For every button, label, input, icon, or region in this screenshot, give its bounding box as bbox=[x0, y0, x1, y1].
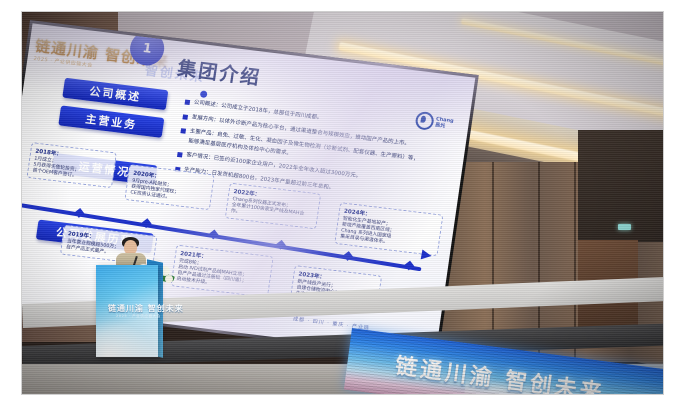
slide-nav-main-business: 主营业务 bbox=[58, 105, 164, 137]
bullet-square-icon bbox=[182, 114, 188, 120]
exit-sign-icon bbox=[618, 224, 631, 230]
bullet-lead: 主要产品： bbox=[189, 128, 217, 137]
podium-subtitle: 2025 · 产业供应链大会 bbox=[116, 314, 161, 319]
conference-photo: 链通川渝 智创未来 2025 · 产业供应链大会 1 智创未来 集团介绍 公司概… bbox=[0, 0, 685, 408]
timeline-card: 2018年： 1月成立； 5月获得天使轮投资； 首个OEM客户签订。 bbox=[27, 142, 117, 188]
bullet-lead: 客户情况： bbox=[186, 152, 214, 161]
timeline-card: 2021年： 完成B轮； 启动 IVD试剂产品线MAH立项； 自产产品通过注册检… bbox=[171, 244, 274, 297]
bullet-square-icon bbox=[177, 152, 183, 158]
podium-wave-graphic bbox=[96, 317, 158, 357]
photo-frame: 链通川渝 智创未来 2025 · 产业供应链大会 1 智创未来 集团介绍 公司概… bbox=[22, 12, 663, 394]
slide-nav-company-overview: 公司概述 bbox=[62, 78, 168, 110]
timeline-arrowhead-icon bbox=[421, 250, 433, 261]
slide-title: 集团介绍 bbox=[176, 53, 263, 90]
bullet-lead: 发展方向： bbox=[191, 114, 219, 123]
bullet-lead: 公司概述： bbox=[193, 100, 221, 109]
bullet-square-icon bbox=[185, 99, 191, 105]
decorative-dot bbox=[200, 90, 208, 98]
podium: 链通川渝 智创未来 2025 · 产业供应链大会 bbox=[96, 265, 158, 357]
bullet-square-icon bbox=[180, 128, 186, 134]
podium-title: 链通川渝 智创未来 bbox=[108, 303, 184, 314]
